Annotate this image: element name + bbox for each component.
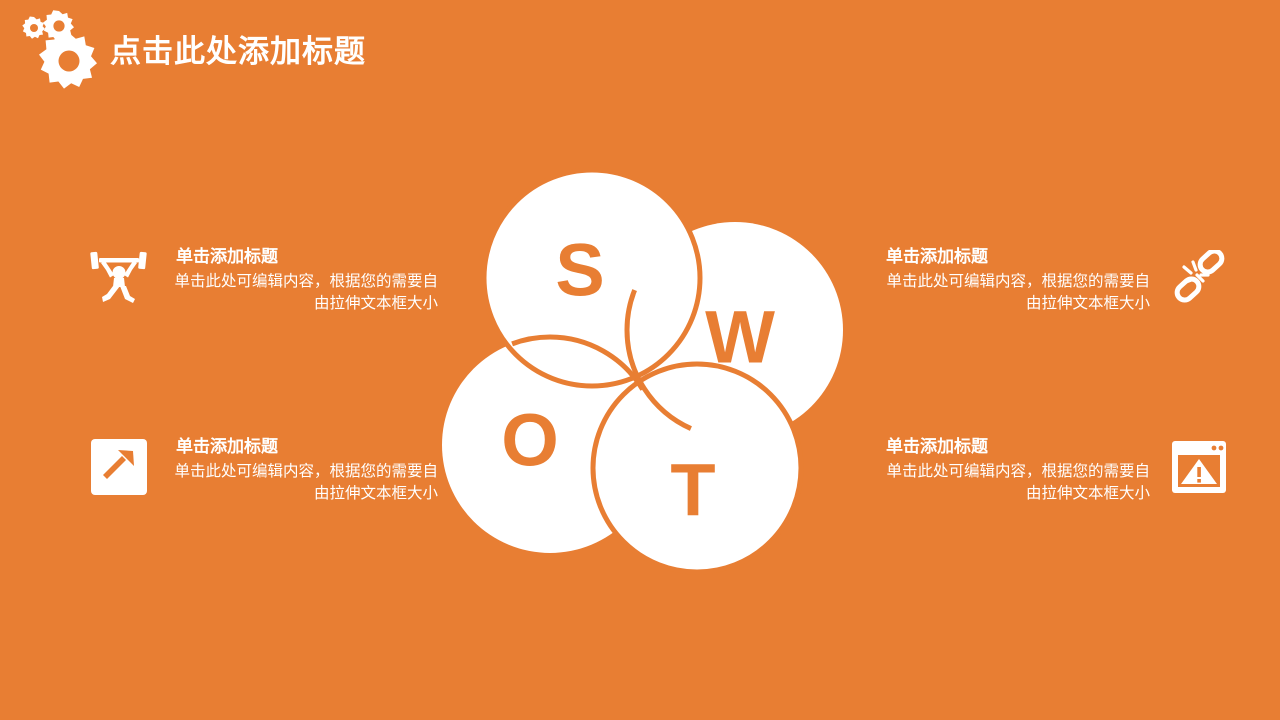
swot-letter-s: S	[555, 229, 604, 312]
feature-text-top-right: 单击添加标题 单击此处可编辑内容，根据您的需要自由拉伸文本框大小	[880, 246, 1150, 315]
feature-title: 单击添加标题	[880, 246, 988, 267]
feature-block-bottom-left[interactable]: 单击添加标题 单击此处可编辑内容，根据您的需要自由拉伸文本框大小	[88, 436, 438, 505]
swot-diagram: S W O T	[430, 155, 860, 585]
feature-text-top-left: 单击添加标题 单击此处可编辑内容，根据您的需要自由拉伸文本框大小	[168, 246, 438, 315]
slide-canvas: 点击此处添加标题 S W O T	[0, 0, 1280, 720]
feature-body: 单击此处可编辑内容，根据您的需要自由拉伸文本框大小	[880, 271, 1150, 315]
page-title: 点击此处添加标题	[110, 26, 366, 71]
feature-body: 单击此处可编辑内容，根据您的需要自由拉伸文本框大小	[880, 461, 1150, 505]
feature-title: 单击添加标题	[168, 436, 438, 457]
weightlifter-icon	[88, 246, 150, 308]
feature-text-bottom-right: 单击添加标题 单击此处可编辑内容，根据您的需要自由拉伸文本框大小	[880, 436, 1150, 505]
broken-chain-icon	[1168, 246, 1230, 308]
swot-letter-t: T	[670, 449, 715, 532]
feature-body: 单击此处可编辑内容，根据您的需要自由拉伸文本框大小	[168, 461, 438, 505]
feature-body: 单击此处可编辑内容，根据您的需要自由拉伸文本框大小	[168, 271, 438, 315]
feature-text-bottom-left: 单击添加标题 单击此处可编辑内容，根据您的需要自由拉伸文本框大小	[168, 436, 438, 505]
feature-block-bottom-right[interactable]: 单击添加标题 单击此处可编辑内容，根据您的需要自由拉伸文本框大小	[880, 436, 1230, 505]
warning-window-icon	[1168, 436, 1230, 498]
swot-letter-w: W	[705, 296, 775, 379]
swot-letter-o: O	[501, 399, 559, 482]
arrow-up-right-icon	[88, 436, 150, 498]
feature-block-top-left[interactable]: 单击添加标题 单击此处可编辑内容，根据您的需要自由拉伸文本框大小	[88, 246, 438, 315]
feature-title: 单击添加标题	[880, 436, 988, 457]
slide-header: 点击此处添加标题	[0, 0, 1280, 95]
feature-title: 单击添加标题	[168, 246, 438, 267]
gears-icon	[14, 6, 106, 92]
feature-block-top-right[interactable]: 单击添加标题 单击此处可编辑内容，根据您的需要自由拉伸文本框大小	[880, 246, 1230, 315]
